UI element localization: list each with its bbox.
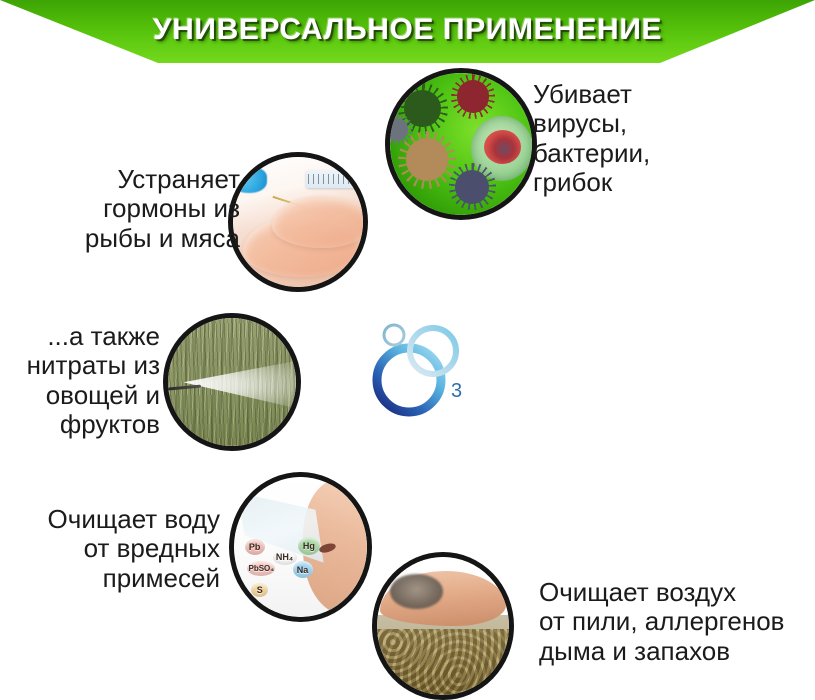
chem-bubble: Na <box>293 561 313 578</box>
field-spraying-image <box>168 318 296 446</box>
cell-nucleus <box>484 130 521 164</box>
meat-fillet-back <box>272 196 363 248</box>
ozone-logo-icon <box>365 318 475 423</box>
drinking-water-image: Pb NH₄ PbSO₄ Na Hg S <box>234 477 367 617</box>
chem-bubble: Hg <box>298 537 320 555</box>
caption-hormones: Устраняет гормоны из рыбы и мяса <box>40 165 240 253</box>
header-banner: УНИВЕРСАЛЬНОЕ ПРИМЕНЕНИЕ <box>0 0 815 63</box>
germ-blue-gray <box>455 170 489 204</box>
dust-on-finger <box>390 574 443 610</box>
meat-fish-image <box>233 157 363 287</box>
caption-air: Очищает воздух от пили, аллергенов дыма … <box>539 578 815 666</box>
caption-nitrates: ...а также нитраты из овощей и фруктов <box>10 322 160 440</box>
chem-bubble: Pb <box>245 539 265 555</box>
germ-tan <box>406 138 449 181</box>
germ-red <box>457 80 490 113</box>
page-title: УНИВЕРСАЛЬНОЕ ПРИМЕНЕНИЕ <box>153 13 662 47</box>
chem-bubble: PbSO₄ <box>247 561 275 576</box>
ozone-subscript: 3 <box>451 380 462 403</box>
infographic-poster: УНИВЕРСАЛЬНОЕ ПРИМЕНЕНИЕ Убивает вирусы,… <box>0 0 815 700</box>
meat-fish-photo <box>228 152 368 292</box>
chem-bubble: NH₄ <box>273 550 297 565</box>
carpet-dust-mites <box>377 629 509 695</box>
dust-allergens-photo <box>372 552 514 700</box>
viruses-bacteria-photo <box>385 68 537 220</box>
chem-bubble: S <box>251 583 268 597</box>
viruses-bacteria-image <box>390 73 532 215</box>
field-spraying-photo <box>163 313 301 451</box>
caption-water: Очищает воду от вредных примесей <box>12 505 220 593</box>
ozone-logo: 3 <box>365 318 475 423</box>
germ-small-gray <box>390 118 408 141</box>
caption-germs: Убивает вирусы, бактерии, грибок <box>533 80 753 198</box>
drinking-water-photo: Pb NH₄ PbSO₄ Na Hg S <box>229 472 372 622</box>
dust-allergens-image <box>377 557 509 695</box>
syringe-scale <box>308 174 357 184</box>
